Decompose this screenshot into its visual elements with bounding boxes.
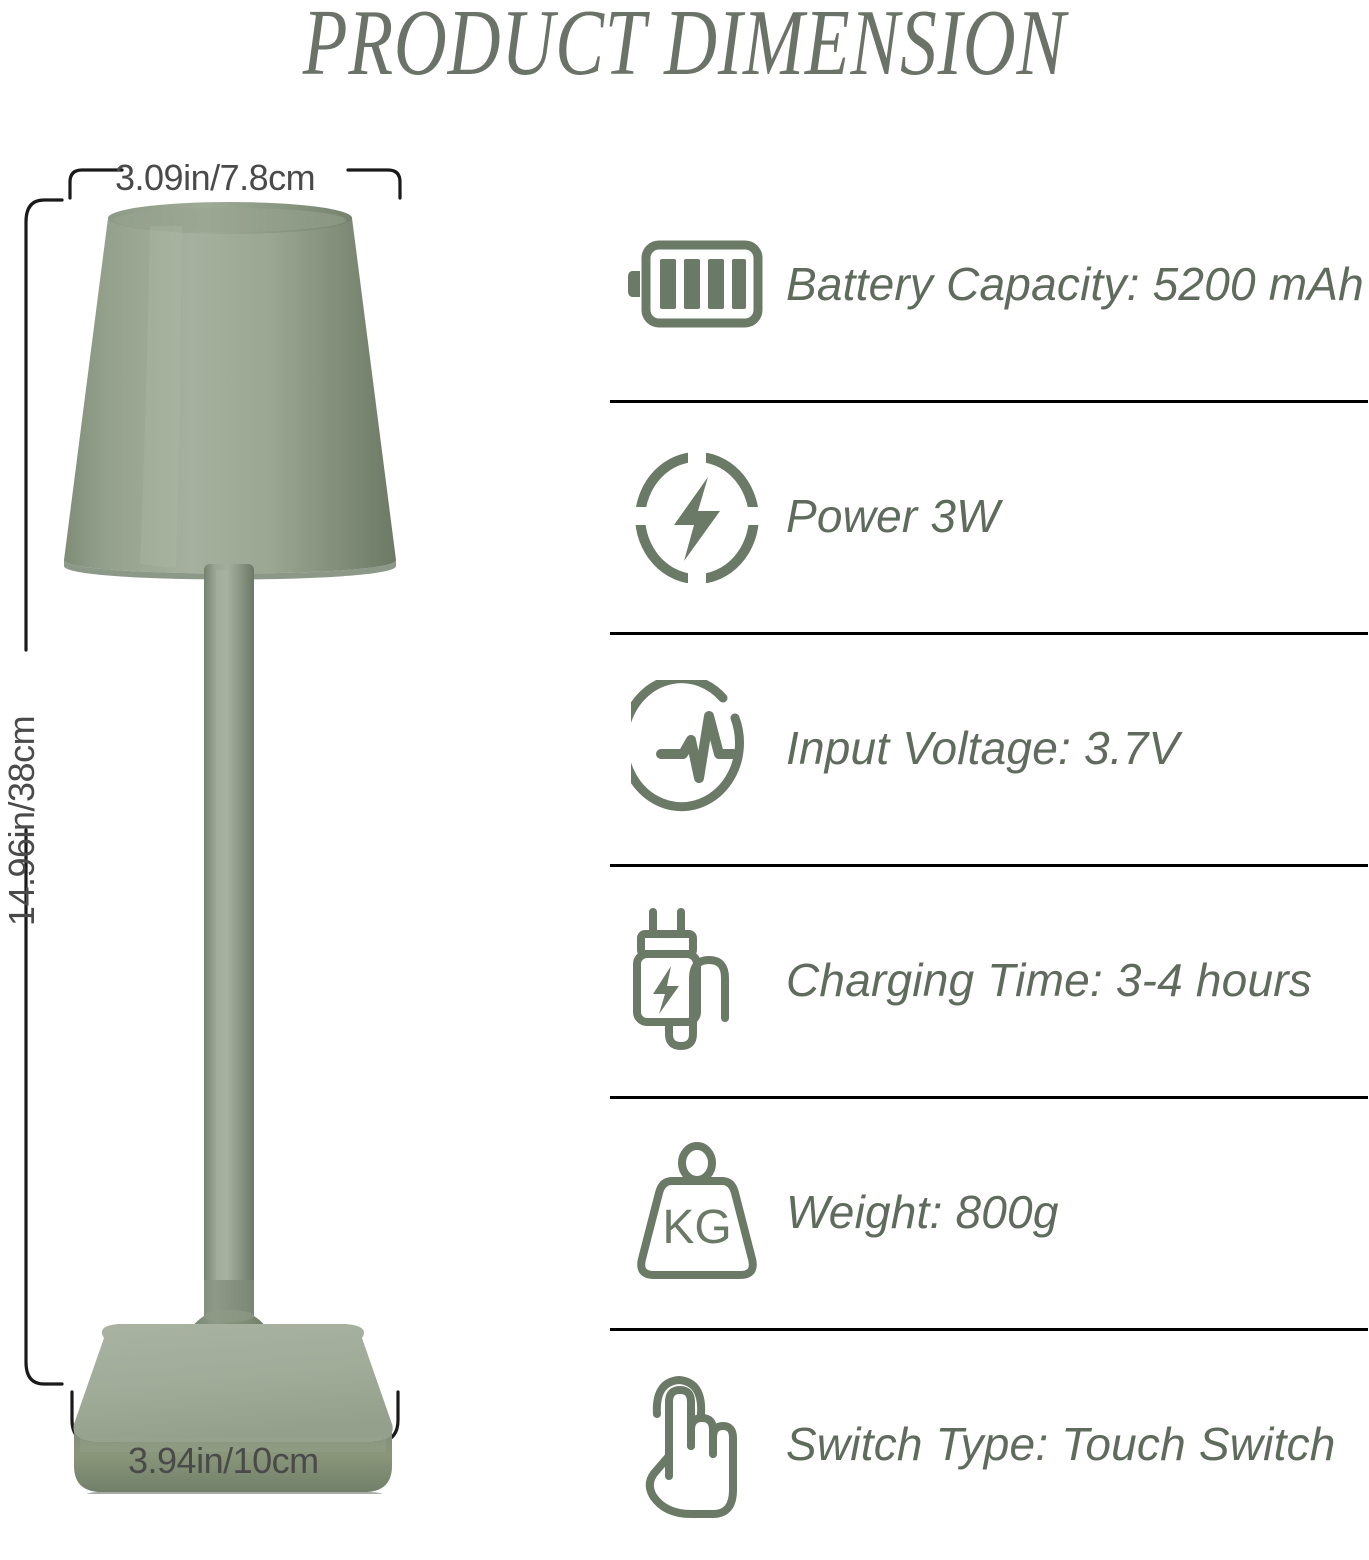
voltage-pulse-icon [608, 680, 786, 816]
spec-row-switch: Switch Type: Touch Switch [608, 1328, 1366, 1560]
dimension-label-base-width: 3.94in/10cm [128, 1440, 319, 1482]
spec-row-battery: Battery Capacity: 5200 mAh [608, 168, 1366, 400]
touch-hand-icon [608, 1370, 786, 1518]
spec-row-power: Power 3W [608, 400, 1366, 632]
spec-label-switch: Switch Type: Touch Switch [786, 1417, 1336, 1471]
charger-plug-icon [608, 906, 786, 1054]
spec-label-battery: Battery Capacity: 5200 mAh [786, 257, 1364, 311]
battery-icon [608, 233, 786, 335]
spec-label-weight: Weight: 800g [786, 1185, 1059, 1239]
dimension-label-width: 3.09in/7.8cm [115, 157, 315, 199]
page-title: PRODUCT DIMENSION [151, 0, 1219, 93]
spec-row-voltage: Input Voltage: 3.7V [608, 632, 1366, 864]
weight-kg-icon: KG [608, 1141, 786, 1283]
spec-label-voltage: Input Voltage: 3.7V [786, 721, 1179, 775]
spec-row-weight: KG Weight: 800g [608, 1096, 1366, 1328]
spec-label-power: Power 3W [786, 489, 1000, 543]
dimension-label-height: 14.96in/38cm [1, 691, 43, 951]
power-bolt-icon [608, 449, 786, 583]
lamp-illustration [0, 130, 470, 1494]
weight-icon-text: KG [662, 1201, 731, 1254]
spec-label-charging: Charging Time: 3-4 hours [786, 953, 1312, 1007]
specification-list: Battery Capacity: 5200 mAh Power 3W [608, 168, 1366, 1560]
spec-row-charging: Charging Time: 3-4 hours [608, 864, 1366, 1096]
